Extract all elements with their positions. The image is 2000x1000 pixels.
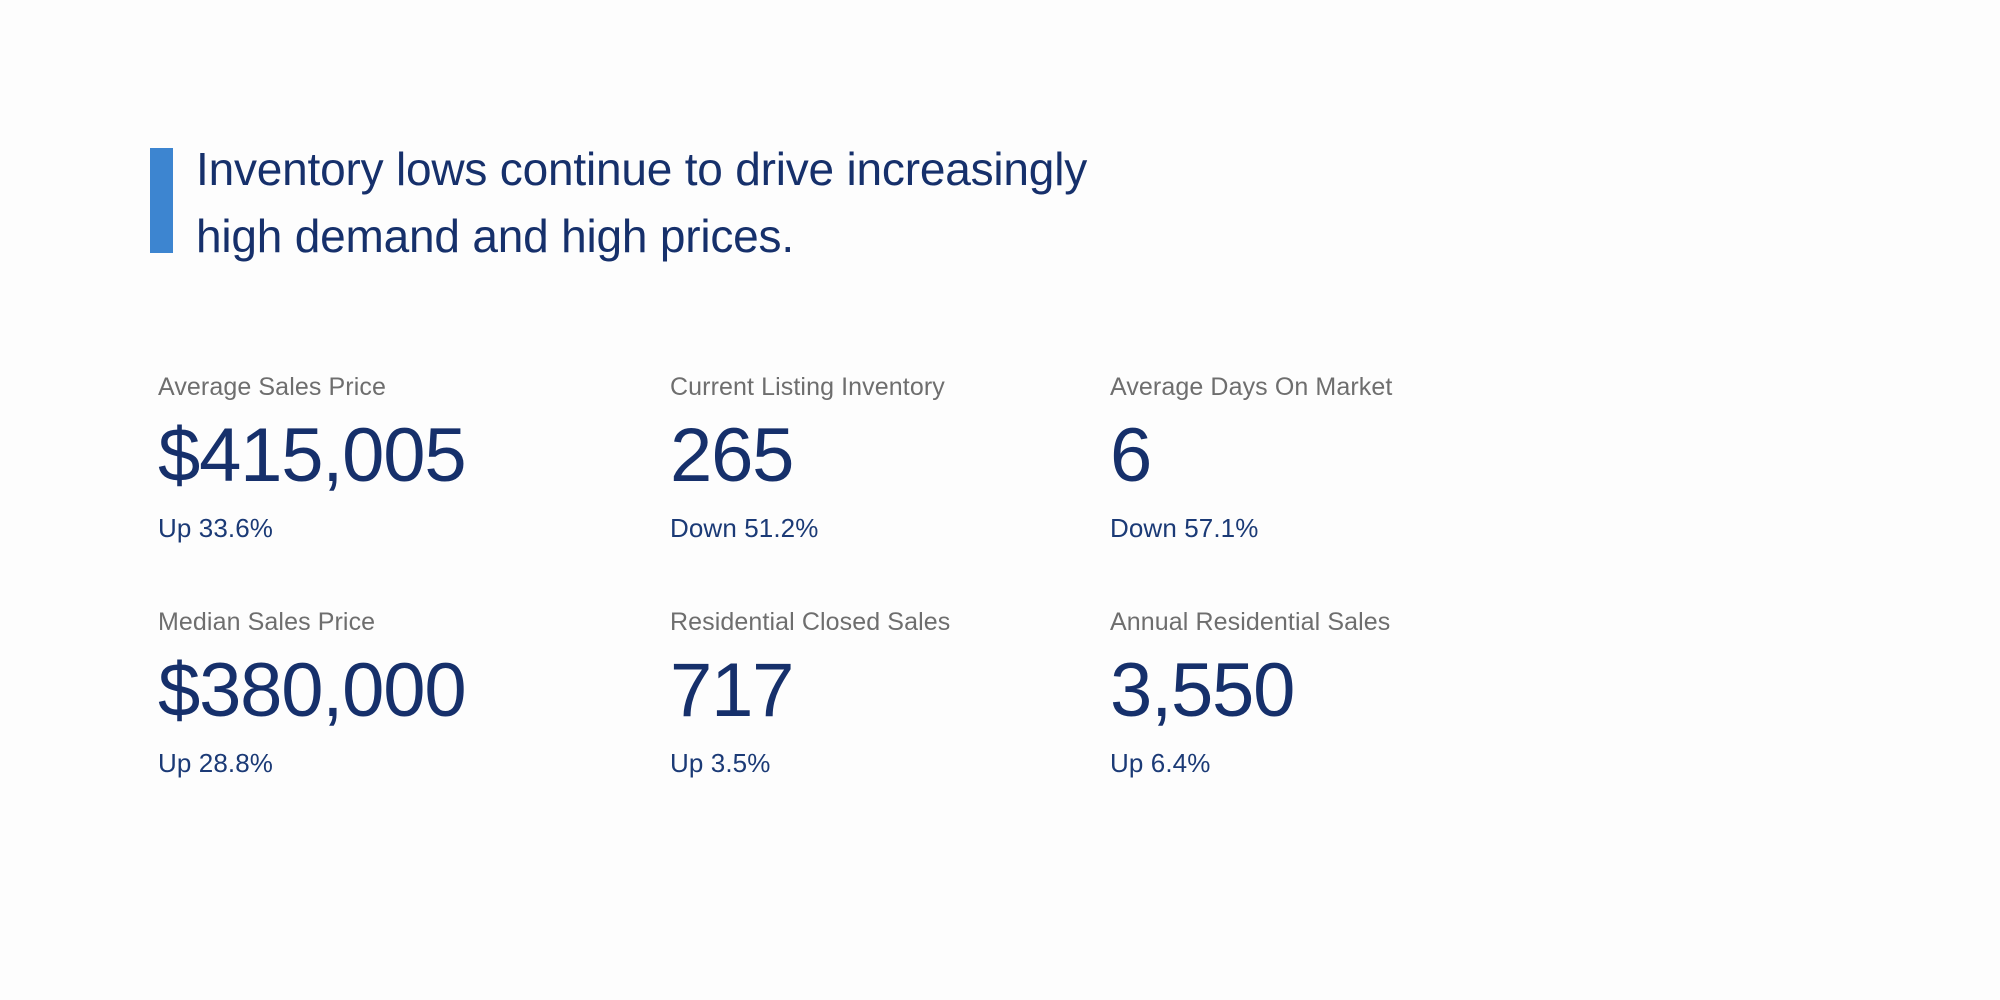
stat-card-annual-residential-sales: Annual Residential Sales 3,550 Up 6.4% (1110, 607, 1550, 779)
stat-delta: Up 28.8% (158, 747, 670, 779)
stat-label: Median Sales Price (158, 607, 670, 637)
stat-delta: Up 6.4% (1110, 747, 1550, 779)
stat-card-current-listing-inventory: Current Listing Inventory 265 Down 51.2% (670, 372, 1110, 544)
stat-delta: Up 33.6% (158, 512, 670, 544)
stats-grid: Average Sales Price $415,005 Up 33.6% Cu… (158, 372, 1658, 779)
page-title: Inventory lows continue to drive increas… (196, 136, 1087, 270)
stat-label: Current Listing Inventory (670, 372, 1110, 402)
stat-value: 265 (670, 410, 1110, 502)
stat-card-residential-closed-sales: Residential Closed Sales 717 Up 3.5% (670, 607, 1110, 779)
stat-value: $380,000 (158, 645, 670, 737)
stat-delta: Down 51.2% (670, 512, 1110, 544)
stat-label: Annual Residential Sales (1110, 607, 1550, 637)
stat-delta: Down 57.1% (1110, 512, 1550, 544)
stat-delta: Up 3.5% (670, 747, 1110, 779)
stat-value: 3,550 (1110, 645, 1550, 737)
stat-value: 717 (670, 645, 1110, 737)
accent-bar (150, 148, 173, 253)
market-stats-slide: Inventory lows continue to drive increas… (0, 0, 2000, 1000)
stat-label: Average Sales Price (158, 372, 670, 402)
stat-label: Average Days On Market (1110, 372, 1550, 402)
stat-label: Residential Closed Sales (670, 607, 1110, 637)
stat-value: 6 (1110, 410, 1550, 502)
stat-value: $415,005 (158, 410, 670, 502)
stat-card-average-sales-price: Average Sales Price $415,005 Up 33.6% (158, 372, 670, 544)
stat-card-average-days-on-market: Average Days On Market 6 Down 57.1% (1110, 372, 1550, 544)
stat-card-median-sales-price: Median Sales Price $380,000 Up 28.8% (158, 607, 670, 779)
headline-block: Inventory lows continue to drive increas… (150, 148, 1087, 270)
